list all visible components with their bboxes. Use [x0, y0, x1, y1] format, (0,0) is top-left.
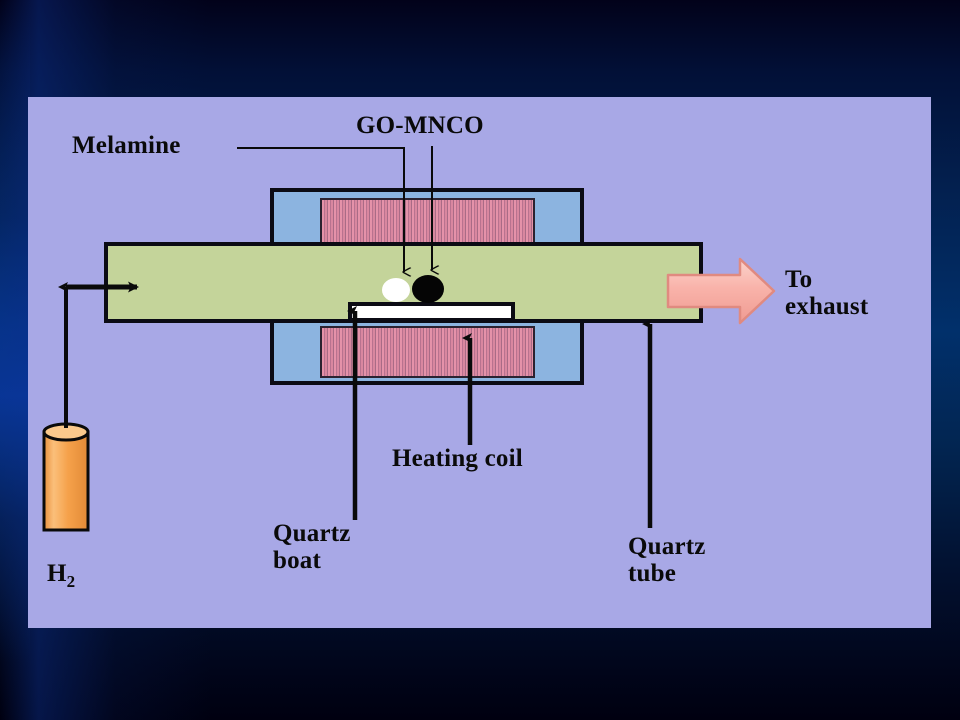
label-gomnco: GO-MNCO	[356, 112, 484, 139]
slide-background: Melamine GO-MNCO To exhaust Heating coil…	[0, 0, 960, 720]
label-heating-coil: Heating coil	[392, 445, 523, 472]
quartz-boat	[348, 302, 515, 322]
label-h2: H2	[47, 560, 75, 591]
heating-coil-bottom	[320, 326, 535, 378]
label-h2-element: H	[47, 560, 67, 587]
label-to-exhaust: To exhaust	[785, 266, 868, 320]
label-h2-subscript: 2	[67, 572, 76, 591]
label-quartz-tube: Quartz tube	[628, 533, 706, 587]
label-quartz-boat: Quartz boat	[273, 520, 351, 574]
gomnco-particle	[412, 275, 444, 303]
label-melamine: Melamine	[72, 132, 181, 159]
melamine-particle	[382, 278, 410, 302]
